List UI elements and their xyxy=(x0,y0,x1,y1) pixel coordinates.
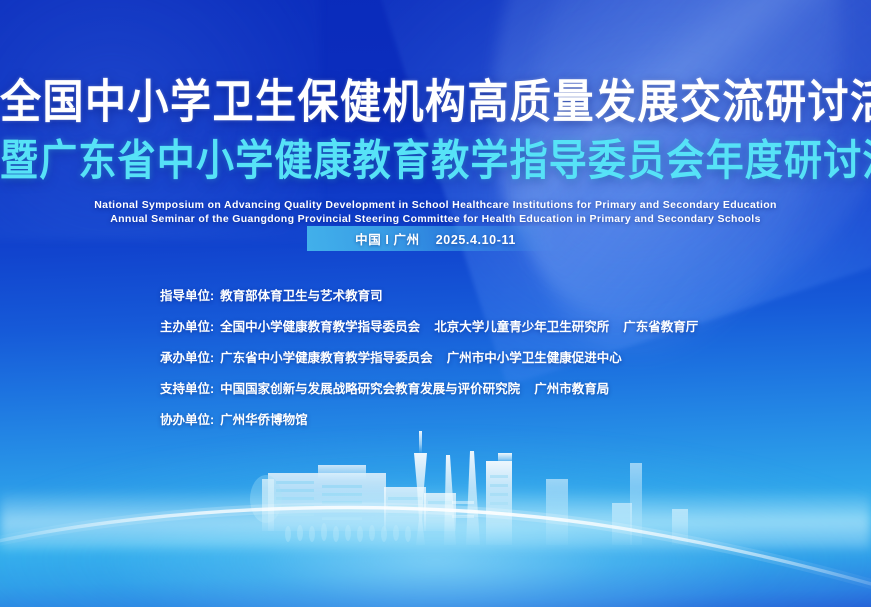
organizer-value: 广东省教育厅 xyxy=(623,319,698,336)
organizer-label: 支持单位: xyxy=(160,381,214,398)
organizer-values: 广东省中小学健康教育教学指导委员会 广州市中小学卫生健康促进中心 xyxy=(220,350,622,367)
organizer-row: 承办单位: 广东省中小学健康教育教学指导委员会 广州市中小学卫生健康促进中心 xyxy=(160,350,698,367)
organizer-value: 广东省中小学健康教育教学指导委员会 xyxy=(220,350,433,367)
organizer-value: 广州华侨博物馆 xyxy=(220,412,308,429)
organizer-label: 指导单位: xyxy=(160,288,214,305)
poster-title-block: 全国中小学卫生保健机构高质量发展交流研讨活动 暨广东省中小学健康教育教学指导委员… xyxy=(0,74,871,226)
organizer-values: 广州华侨博物馆 xyxy=(220,412,308,429)
conference-poster: 全国中小学卫生保健机构高质量发展交流研讨活动 暨广东省中小学健康教育教学指导委员… xyxy=(0,0,871,607)
venue-date-badge: 中国 I 广州2025.4.10-11 xyxy=(307,226,565,251)
organizer-row: 协办单位: 广州华侨博物馆 xyxy=(160,412,698,429)
high-rise-block-silhouette xyxy=(546,463,688,545)
school-building-silhouette xyxy=(250,465,456,542)
twin-spire-towers-silhouette xyxy=(444,451,480,545)
organizer-values: 全国中小学健康教育教学指导委员会 北京大学儿童青少年卫生研究所 广东省教育厅 xyxy=(220,319,698,336)
organizer-values: 教育部体育卫生与艺术教育司 xyxy=(220,288,383,305)
background-horizon-glow xyxy=(0,430,871,607)
main-title-line-1: 全国中小学卫生保健机构高质量发展交流研讨活动 xyxy=(0,74,871,130)
organizer-value: 广州市教育局 xyxy=(534,381,609,398)
organizer-value: 北京大学儿童青少年卫生研究所 xyxy=(434,319,609,336)
badge-content: 中国 I 广州2025.4.10-11 xyxy=(355,229,516,248)
organizer-row: 主办单位: 全国中小学健康教育教学指导委员会 北京大学儿童青少年卫生研究所 广东… xyxy=(160,319,698,336)
city-skyline-illustration xyxy=(0,427,871,607)
organizer-label: 承办单位: xyxy=(160,350,214,367)
canton-tower-silhouette xyxy=(414,431,427,545)
organizer-label: 主办单位: xyxy=(160,319,214,336)
organizer-row: 支持单位: 中国国家创新与发展战略研究会教育发展与评价研究院 广州市教育局 xyxy=(160,381,698,398)
organizer-values: 中国国家创新与发展战略研究会教育发展与评价研究院 广州市教育局 xyxy=(220,381,609,398)
students-foreground xyxy=(285,523,411,542)
venue-date-badge-row: 中国 I 广州2025.4.10-11 xyxy=(0,226,871,251)
ground-haze-band xyxy=(0,489,871,549)
english-subtitle-line-1: National Symposium on Advancing Quality … xyxy=(0,198,871,212)
badge-date: 2025.4.10-11 xyxy=(436,233,516,247)
office-tower-silhouette xyxy=(486,453,512,545)
main-title-line-2: 暨广东省中小学健康教育教学指导委员会年度研讨活动 xyxy=(0,136,871,188)
organizer-value: 教育部体育卫生与艺术教育司 xyxy=(220,288,383,305)
organizer-value: 中国国家创新与发展战略研究会教育发展与评价研究院 xyxy=(220,381,520,398)
organizer-list: 指导单位: 教育部体育卫生与艺术教育司 主办单位: 全国中小学健康教育教学指导委… xyxy=(160,288,698,443)
organizer-value: 广州市中小学卫生健康促进中心 xyxy=(447,350,622,367)
organizer-row: 指导单位: 教育部体育卫生与艺术教育司 xyxy=(160,288,698,305)
organizer-value: 全国中小学健康教育教学指导委员会 xyxy=(220,319,420,336)
english-subtitle-line-2: Annual Seminar of the Guangdong Provinci… xyxy=(0,212,871,226)
badge-location: 中国 I 广州 xyxy=(355,233,420,247)
organizer-label: 协办单位: xyxy=(160,412,214,429)
